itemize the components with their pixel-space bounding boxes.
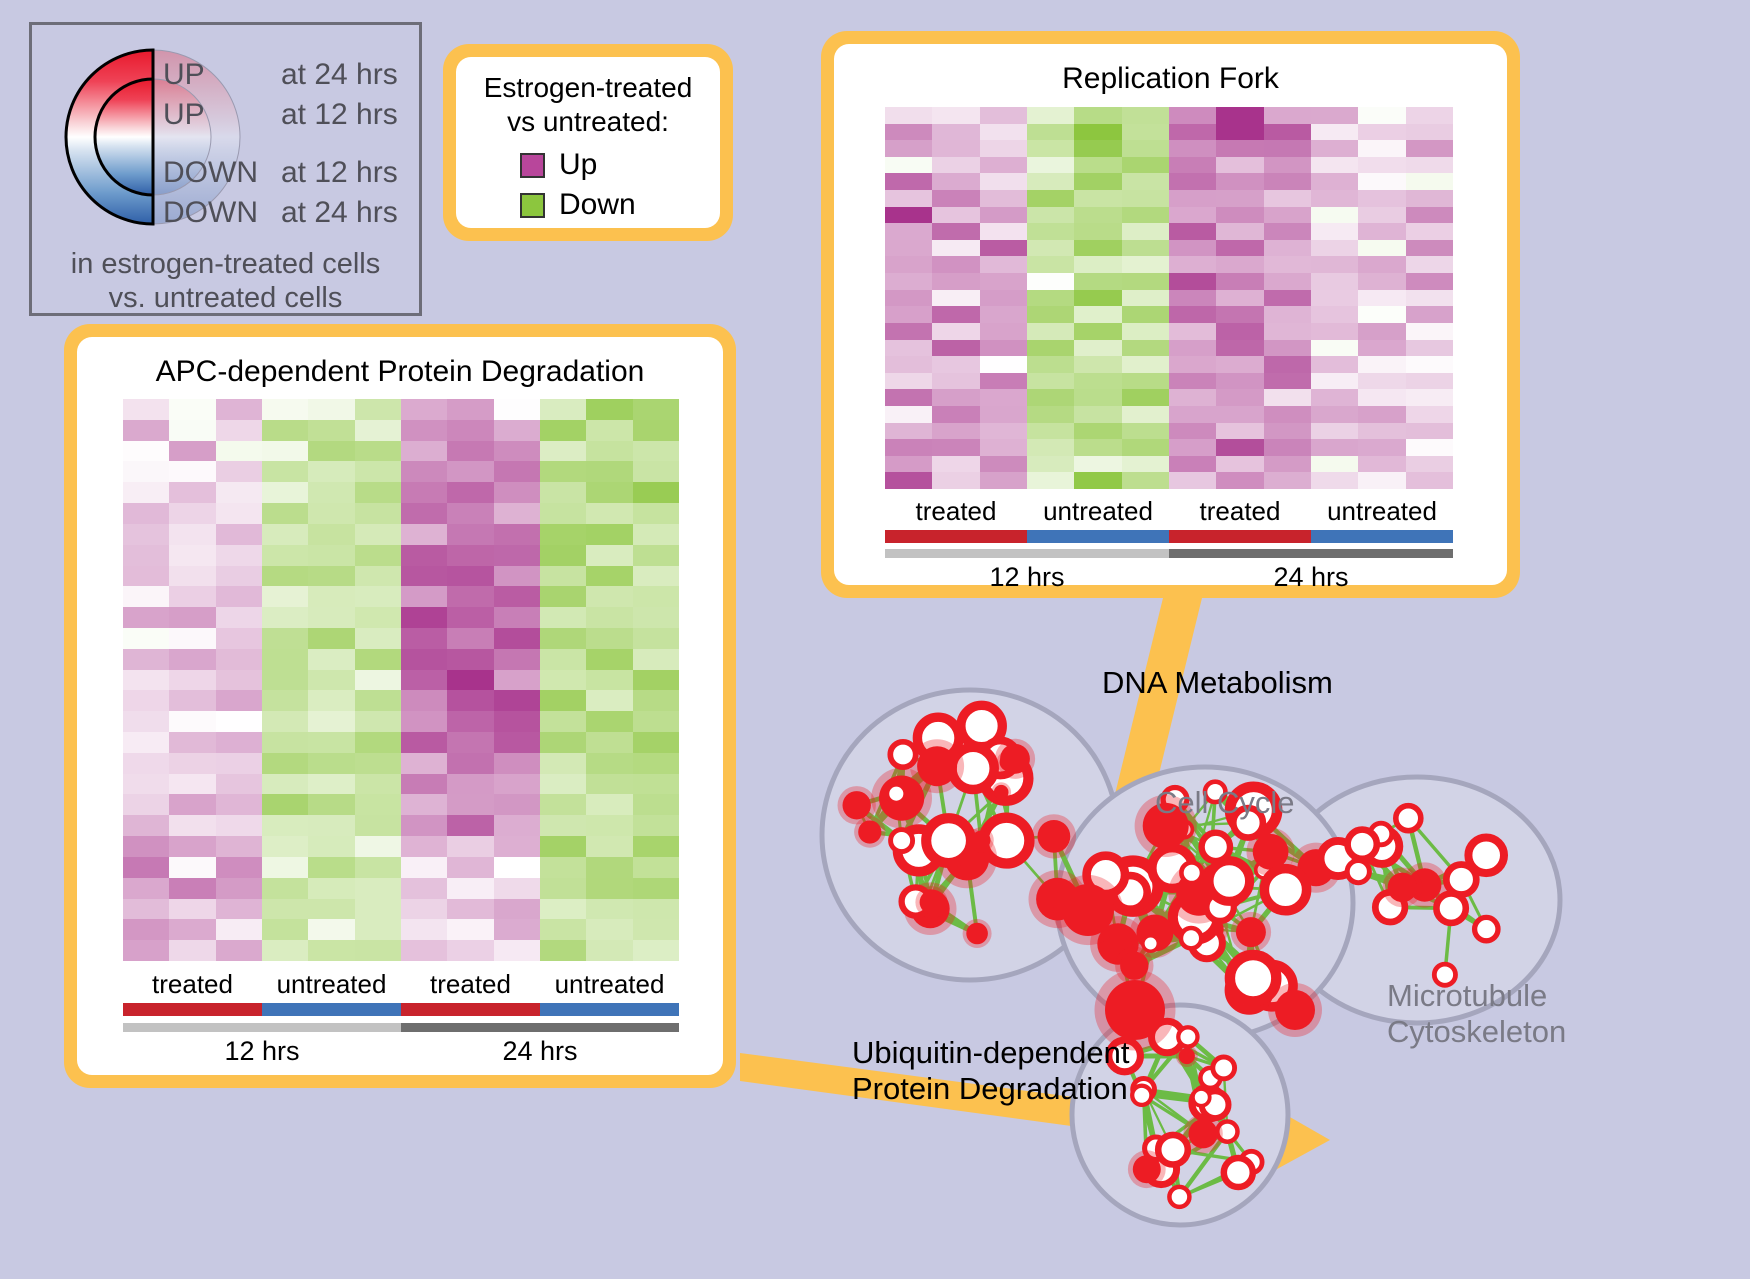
heatmap-cell xyxy=(123,420,169,441)
heatmap-cell xyxy=(932,373,979,390)
color-key-panel: Estrogen-treated vs untreated: Up Down xyxy=(443,44,733,241)
heatmap-cell xyxy=(633,878,679,899)
network-node[interactable] xyxy=(858,820,881,843)
network-node[interactable] xyxy=(1230,955,1276,1001)
network-node[interactable] xyxy=(887,785,905,803)
network-node[interactable] xyxy=(1236,917,1266,947)
heatmap-cell xyxy=(308,940,354,961)
network-node[interactable] xyxy=(1264,869,1306,911)
heatmap-cell xyxy=(401,441,447,462)
network-node[interactable] xyxy=(1000,744,1030,774)
heatmap-cell xyxy=(1216,124,1263,141)
heatmap-cell xyxy=(885,124,932,141)
heatmap-cell xyxy=(216,441,262,462)
heatmap-cell xyxy=(355,628,401,649)
heatmap-cell xyxy=(262,461,308,482)
heatmap-cell xyxy=(980,290,1027,307)
heatmap-cell xyxy=(401,399,447,420)
network-node[interactable] xyxy=(1189,1119,1218,1148)
heatmap-cell xyxy=(401,586,447,607)
heatmap-cell xyxy=(1406,240,1453,257)
heatmap-cell xyxy=(586,461,632,482)
heatmap-cell xyxy=(1027,240,1074,257)
heatmap-cell xyxy=(1358,340,1405,357)
heatmap-cell xyxy=(540,711,586,732)
heatmap-cell xyxy=(633,482,679,503)
heatmap-cell xyxy=(885,306,932,323)
heatmap-cell xyxy=(447,732,493,753)
heatmap-cell xyxy=(216,774,262,795)
heatmap-cell xyxy=(494,441,540,462)
heatmap-cell xyxy=(885,323,932,340)
heatmap-cell xyxy=(1216,290,1263,307)
heatmap-cell xyxy=(123,836,169,857)
heatmap-cell xyxy=(1406,157,1453,174)
heatmap-cell xyxy=(494,732,540,753)
heatmap-cell xyxy=(633,940,679,961)
heatmap-cell xyxy=(1216,256,1263,273)
heatmap-cell xyxy=(447,420,493,441)
heatmap-cell xyxy=(1358,190,1405,207)
heatmap-cell xyxy=(1122,207,1169,224)
heatmap-cell xyxy=(401,461,447,482)
network-node[interactable] xyxy=(1193,1089,1210,1106)
heatmap-cell xyxy=(1406,423,1453,440)
heatmap-cell xyxy=(1264,323,1311,340)
heatmap-cell xyxy=(980,240,1027,257)
heatmap-cell xyxy=(1264,190,1311,207)
heatmap-cell xyxy=(169,836,215,857)
heatmap-cell xyxy=(1074,256,1121,273)
legend-direction-label: DOWN xyxy=(163,156,281,190)
heatmap-cell xyxy=(932,290,979,307)
heatmap-cell xyxy=(355,482,401,503)
heatmap-cell xyxy=(1074,406,1121,423)
heatmap-cell xyxy=(262,940,308,961)
heatmap-cell xyxy=(1311,290,1358,307)
network-node[interactable] xyxy=(1396,806,1421,831)
heatmap-cell xyxy=(355,461,401,482)
network-node[interactable] xyxy=(1209,861,1250,902)
heatmap-cell xyxy=(494,690,540,711)
heatmap-cell xyxy=(1358,373,1405,390)
heatmap-cell xyxy=(540,441,586,462)
legend-row-down-12: DOWNat 12 hrs xyxy=(163,156,398,190)
heatmap-cell xyxy=(447,649,493,670)
heatmap-cell xyxy=(169,878,215,899)
heatmap-cell xyxy=(262,711,308,732)
down-color-swatch-icon xyxy=(520,193,545,218)
heatmap-cell xyxy=(980,340,1027,357)
heatmap-cell xyxy=(494,940,540,961)
heatmap-cell xyxy=(633,815,679,836)
heatmap-cell xyxy=(980,389,1027,406)
legend-footer-line2: vs. untreated cells xyxy=(32,281,419,315)
heatmap-cell xyxy=(355,753,401,774)
heatmap-cell xyxy=(1216,157,1263,174)
heatmap-cell xyxy=(1358,290,1405,307)
network-node[interactable] xyxy=(1062,884,1114,936)
heatmap-cell xyxy=(586,482,632,503)
heatmap-cell xyxy=(633,399,679,420)
heatmap-cell xyxy=(1216,107,1263,124)
heatmap-cell xyxy=(885,456,932,473)
heatmap-cell xyxy=(1027,273,1074,290)
heatmap-cell xyxy=(494,628,540,649)
heatmap-cell xyxy=(1264,439,1311,456)
heatmap-cell xyxy=(1311,340,1358,357)
heatmap-cell xyxy=(1122,472,1169,489)
heatmap-cell xyxy=(1122,157,1169,174)
network-node[interactable] xyxy=(920,890,944,914)
heatmap-cell xyxy=(1074,240,1121,257)
heatmap-cell xyxy=(586,399,632,420)
heatmap-cell xyxy=(1027,340,1074,357)
heatmap-cell xyxy=(1122,140,1169,157)
network-node[interactable] xyxy=(1179,1048,1195,1064)
heatmap-cell xyxy=(885,140,932,157)
condition-label: treated xyxy=(885,496,1027,527)
heatmap-cell xyxy=(216,690,262,711)
heatmap-cell xyxy=(494,836,540,857)
heatmap-cell xyxy=(980,173,1027,190)
network-node[interactable] xyxy=(1213,1057,1235,1079)
ubiquitin-line2: Protein Degradation xyxy=(852,1071,1130,1107)
heatmap-cell xyxy=(216,753,262,774)
network-node[interactable] xyxy=(1169,1187,1189,1207)
color-key-title-line1: Estrogen-treated xyxy=(456,71,720,105)
heatmap-cell xyxy=(308,482,354,503)
bar-segment xyxy=(262,1003,401,1016)
heatmap-cell xyxy=(1169,207,1216,224)
network-node[interactable] xyxy=(1388,873,1418,903)
heatmap-cell xyxy=(355,878,401,899)
heatmap-cell xyxy=(1264,290,1311,307)
heatmap-cell xyxy=(1169,423,1216,440)
heatmap-cell xyxy=(447,628,493,649)
heatmap-cell xyxy=(169,586,215,607)
network-node[interactable] xyxy=(1347,861,1369,883)
network-node[interactable] xyxy=(1105,980,1165,1040)
heatmap-cell xyxy=(169,815,215,836)
heatmap-cell xyxy=(932,256,979,273)
condition-label: untreated xyxy=(1311,496,1453,527)
heatmap-cell xyxy=(1311,190,1358,207)
heatmap-cell xyxy=(169,940,215,961)
heatmap-cell xyxy=(980,456,1027,473)
network-node[interactable] xyxy=(966,923,988,945)
heatmap-cell xyxy=(447,482,493,503)
heatmap-cell xyxy=(1358,240,1405,257)
heatmap-cell xyxy=(1122,406,1169,423)
heatmap-cell xyxy=(633,649,679,670)
heatmap-cell xyxy=(355,545,401,566)
legend-footer: in estrogen-treated cells vs. untreated … xyxy=(32,247,419,315)
heatmap-cell xyxy=(1027,323,1074,340)
heatmap-cell xyxy=(447,919,493,940)
heatmap-cell xyxy=(169,545,215,566)
heatmap-cell xyxy=(494,586,540,607)
heatmap-cell xyxy=(885,423,932,440)
heatmap-cell xyxy=(123,732,169,753)
heatmap-cell xyxy=(447,607,493,628)
ubiquitin-line1: Ubiquitin-dependent xyxy=(852,1035,1130,1071)
heatmap-cell xyxy=(1406,340,1453,357)
color-key-item-up: Up xyxy=(520,150,597,180)
network-node[interactable] xyxy=(1275,990,1315,1030)
heatmap-cell xyxy=(123,461,169,482)
legend-footer-line1: in estrogen-treated cells xyxy=(32,247,419,281)
heatmap-cell xyxy=(633,503,679,524)
heatmap-cell xyxy=(1406,456,1453,473)
heatmap-cell xyxy=(308,649,354,670)
apc-time-bars xyxy=(123,1023,679,1032)
heatmap-cell xyxy=(262,732,308,753)
heatmap-cell xyxy=(1216,406,1263,423)
heatmap-cell xyxy=(123,566,169,587)
heatmap-cell xyxy=(932,273,979,290)
heatmap-cell xyxy=(1311,323,1358,340)
color-key-title-line2: vs untreated: xyxy=(456,105,720,139)
heatmap-cell xyxy=(1027,406,1074,423)
heatmap-cell xyxy=(355,607,401,628)
network-node[interactable] xyxy=(891,830,913,852)
heatmap-cell xyxy=(932,107,979,124)
heatmap-cell xyxy=(123,607,169,628)
heatmap-cell xyxy=(980,356,1027,373)
heatmap-cell xyxy=(123,711,169,732)
heatmap-cell xyxy=(447,441,493,462)
network-node[interactable] xyxy=(1475,917,1498,940)
heatmap-cell xyxy=(1122,273,1169,290)
heatmap-cell xyxy=(1216,323,1263,340)
heatmap-cell xyxy=(1311,306,1358,323)
heatmap-cell xyxy=(1074,207,1121,224)
heatmap-cell xyxy=(447,524,493,545)
heatmap-cell xyxy=(123,815,169,836)
heatmap-cell xyxy=(1027,389,1074,406)
pathway-network-diagram: DNA Metabolism Cell Cycle MicrotubuleCyt… xyxy=(790,610,1750,1279)
heatmap-cell xyxy=(1216,240,1263,257)
heatmap-cell xyxy=(1358,456,1405,473)
apc-condition-labels: treated untreated treated untreated xyxy=(123,969,679,1000)
network-node[interactable] xyxy=(1348,830,1377,859)
heatmap-cell xyxy=(216,461,262,482)
heatmap-cell xyxy=(586,649,632,670)
heatmap-cell xyxy=(494,399,540,420)
heatmap-cell xyxy=(355,441,401,462)
heatmap-cell xyxy=(447,566,493,587)
heatmap-cell xyxy=(308,899,354,920)
heatmap-cell xyxy=(447,711,493,732)
heatmap-cell xyxy=(262,774,308,795)
legend-time-label: at 24 hrs xyxy=(281,196,398,230)
heatmap-cell xyxy=(980,124,1027,141)
heatmap-cell xyxy=(355,420,401,441)
heatmap-cell xyxy=(885,439,932,456)
heatmap-cell xyxy=(494,482,540,503)
heatmap-cell xyxy=(1169,240,1216,257)
network-node[interactable] xyxy=(843,791,871,819)
heatmap-cell xyxy=(494,794,540,815)
heatmap-cell xyxy=(633,441,679,462)
heatmap-cell xyxy=(633,690,679,711)
heatmap-cell xyxy=(262,753,308,774)
heatmap-cell xyxy=(1216,472,1263,489)
network-node[interactable] xyxy=(1133,1155,1161,1183)
heatmap-cell xyxy=(1169,306,1216,323)
heatmap-cell xyxy=(1074,389,1121,406)
bar-segment xyxy=(885,530,1027,543)
heatmap-cell xyxy=(216,940,262,961)
heatmap-cell xyxy=(633,899,679,920)
heatmap-cell xyxy=(355,586,401,607)
heatmap-cell xyxy=(262,690,308,711)
heatmap-cell xyxy=(1027,107,1074,124)
heatmap-cell xyxy=(586,732,632,753)
heatmap-cell xyxy=(586,545,632,566)
heatmap-cell xyxy=(355,815,401,836)
network-node[interactable] xyxy=(1143,936,1158,951)
heatmap-cell xyxy=(885,107,932,124)
heatmap-cell xyxy=(262,794,308,815)
heatmap-cell xyxy=(1169,456,1216,473)
heatmap-cell xyxy=(169,732,215,753)
heatmap-cell xyxy=(1358,389,1405,406)
cluster-label-cell-cycle: Cell Cycle xyxy=(1155,785,1295,821)
heatmap-cell xyxy=(169,566,215,587)
heatmap-cell xyxy=(216,836,262,857)
network-node[interactable] xyxy=(994,785,1009,800)
bar-segment xyxy=(1169,549,1453,558)
heatmap-cell xyxy=(447,586,493,607)
heatmap-cell xyxy=(494,524,540,545)
network-node[interactable] xyxy=(1224,1158,1253,1187)
heatmap-cell xyxy=(355,711,401,732)
heatmap-cell xyxy=(1311,173,1358,190)
network-node[interactable] xyxy=(917,746,957,786)
bar-segment xyxy=(123,1003,262,1016)
heatmap-cell xyxy=(123,940,169,961)
heatmap-cell xyxy=(586,607,632,628)
heatmap-cell xyxy=(447,399,493,420)
cluster-label-dna-metabolism: DNA Metabolism xyxy=(1102,665,1333,701)
heatmap-cell xyxy=(1264,173,1311,190)
heatmap-cell xyxy=(401,607,447,628)
heatmap-cell xyxy=(1122,456,1169,473)
heatmap-cell xyxy=(308,607,354,628)
heatmap-cell xyxy=(540,399,586,420)
heatmap-cell xyxy=(980,439,1027,456)
heatmap-cell xyxy=(216,607,262,628)
heatmap-cell xyxy=(123,794,169,815)
heatmap-cell xyxy=(1406,406,1453,423)
heatmap-cell xyxy=(262,482,308,503)
heatmap-cell xyxy=(586,586,632,607)
heatmap-cell xyxy=(1074,290,1121,307)
heatmap-cell xyxy=(1074,306,1121,323)
heatmap-cell xyxy=(586,441,632,462)
heatmap-cell xyxy=(540,940,586,961)
heatmap-cell xyxy=(1216,273,1263,290)
heatmap-cell xyxy=(980,472,1027,489)
heatmap-cell xyxy=(1358,173,1405,190)
network-node[interactable] xyxy=(1446,865,1476,895)
heatmap-cell xyxy=(1358,124,1405,141)
network-node[interactable] xyxy=(1038,820,1071,853)
heatmap-cell xyxy=(401,794,447,815)
heatmap-cell xyxy=(932,389,979,406)
heatmap-cell xyxy=(216,711,262,732)
heatmap-cell xyxy=(355,524,401,545)
heatmap-cell xyxy=(980,323,1027,340)
heatmap-cell xyxy=(401,524,447,545)
heatmap-cell xyxy=(633,566,679,587)
heatmap-cell xyxy=(1122,173,1169,190)
network-node[interactable] xyxy=(1436,894,1465,923)
heatmap-cell xyxy=(1264,124,1311,141)
heatmap-cell xyxy=(1311,223,1358,240)
network-node[interactable] xyxy=(1132,1086,1151,1105)
network-node[interactable] xyxy=(1178,1027,1197,1046)
heatmap-cell xyxy=(1074,456,1121,473)
heatmap-cell xyxy=(262,649,308,670)
heatmap-cell xyxy=(932,306,979,323)
heatmap-cell xyxy=(262,586,308,607)
heatmap-cell xyxy=(1169,439,1216,456)
network-node[interactable] xyxy=(926,818,971,863)
heatmap-cell xyxy=(355,503,401,524)
heatmap-cell xyxy=(1406,256,1453,273)
heatmap-cell xyxy=(308,566,354,587)
heatmap-cell xyxy=(633,607,679,628)
heatmap-cell xyxy=(262,420,308,441)
network-node[interactable] xyxy=(1181,863,1202,884)
heatmap-cell xyxy=(1027,423,1074,440)
heatmap-cell xyxy=(1122,306,1169,323)
heatmap-cell xyxy=(494,420,540,441)
heatmap-cell xyxy=(355,857,401,878)
heatmap-cell xyxy=(1264,140,1311,157)
heatmap-cell xyxy=(586,774,632,795)
heatmap-cell xyxy=(885,340,932,357)
heatmap-cell xyxy=(1358,273,1405,290)
heatmap-cell xyxy=(494,857,540,878)
heatmap-cell xyxy=(216,503,262,524)
heatmap-cell xyxy=(1122,290,1169,307)
heatmap-cell xyxy=(494,711,540,732)
network-node[interactable] xyxy=(890,742,915,767)
network-node[interactable] xyxy=(1181,928,1201,948)
heatmap-cell xyxy=(540,815,586,836)
heatmap-cell xyxy=(1216,190,1263,207)
heatmap-cell xyxy=(980,423,1027,440)
heatmap-cell xyxy=(633,670,679,691)
heatmap-cell xyxy=(355,670,401,691)
heatmap-cell xyxy=(401,649,447,670)
bar-segment xyxy=(885,549,1169,558)
heatmap-cell xyxy=(1311,240,1358,257)
heatmap-cell xyxy=(633,711,679,732)
heatmap-cell xyxy=(1264,373,1311,390)
heatmap-cell xyxy=(1216,173,1263,190)
heatmap-cell xyxy=(216,420,262,441)
heatmap-cell xyxy=(885,356,932,373)
heatmap-cell xyxy=(216,649,262,670)
heatmap-cell xyxy=(262,899,308,920)
bar-segment xyxy=(401,1023,679,1032)
heatmap-cell xyxy=(1406,323,1453,340)
